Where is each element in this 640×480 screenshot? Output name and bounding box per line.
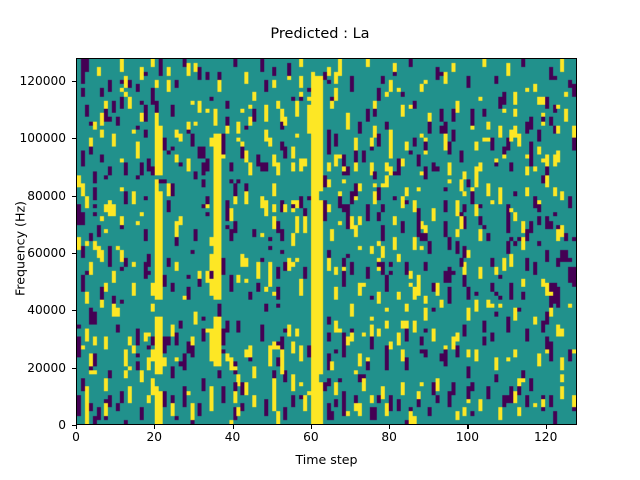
y-tick-mark (72, 196, 76, 197)
y-tick-label: 100000 (19, 131, 66, 145)
x-axis-label: Time step (76, 452, 577, 467)
x-tick-label: 60 (303, 430, 319, 444)
heatmap-canvas (77, 59, 576, 424)
matplotlib-figure: Predicted : La 0200004000060000800001000… (0, 0, 640, 480)
x-tick-label: 80 (381, 430, 397, 444)
y-tick-label: 40000 (27, 303, 66, 317)
y-tick-label: 20000 (27, 361, 66, 375)
x-tick-label: 120 (534, 430, 557, 444)
page-title: Predicted : La (0, 26, 640, 42)
heatmap-axes (76, 58, 577, 425)
y-tick-label: 120000 (19, 74, 66, 88)
x-tick-mark (467, 425, 468, 429)
y-tick-mark (72, 368, 76, 369)
y-tick-label: 80000 (27, 189, 66, 203)
x-tick-mark (154, 425, 155, 429)
x-tick-mark (233, 425, 234, 429)
x-tick-label: 100 (456, 430, 479, 444)
y-tick-mark (72, 138, 76, 139)
y-tick-label: 0 (58, 418, 66, 432)
y-tick-mark (72, 253, 76, 254)
x-tick-label: 0 (72, 430, 80, 444)
x-tick-mark (546, 425, 547, 429)
x-tick-label: 40 (225, 430, 241, 444)
x-tick-mark (311, 425, 312, 429)
x-tick-mark (76, 425, 77, 429)
x-tick-label: 20 (147, 430, 163, 444)
y-axis-label: Frequency (Hz) (13, 149, 28, 349)
y-tick-mark (72, 81, 76, 82)
y-tick-label: 60000 (27, 246, 66, 260)
x-tick-mark (389, 425, 390, 429)
y-tick-mark (72, 310, 76, 311)
y-axis-tick-labels: 020000400006000080000100000120000 (0, 0, 66, 480)
